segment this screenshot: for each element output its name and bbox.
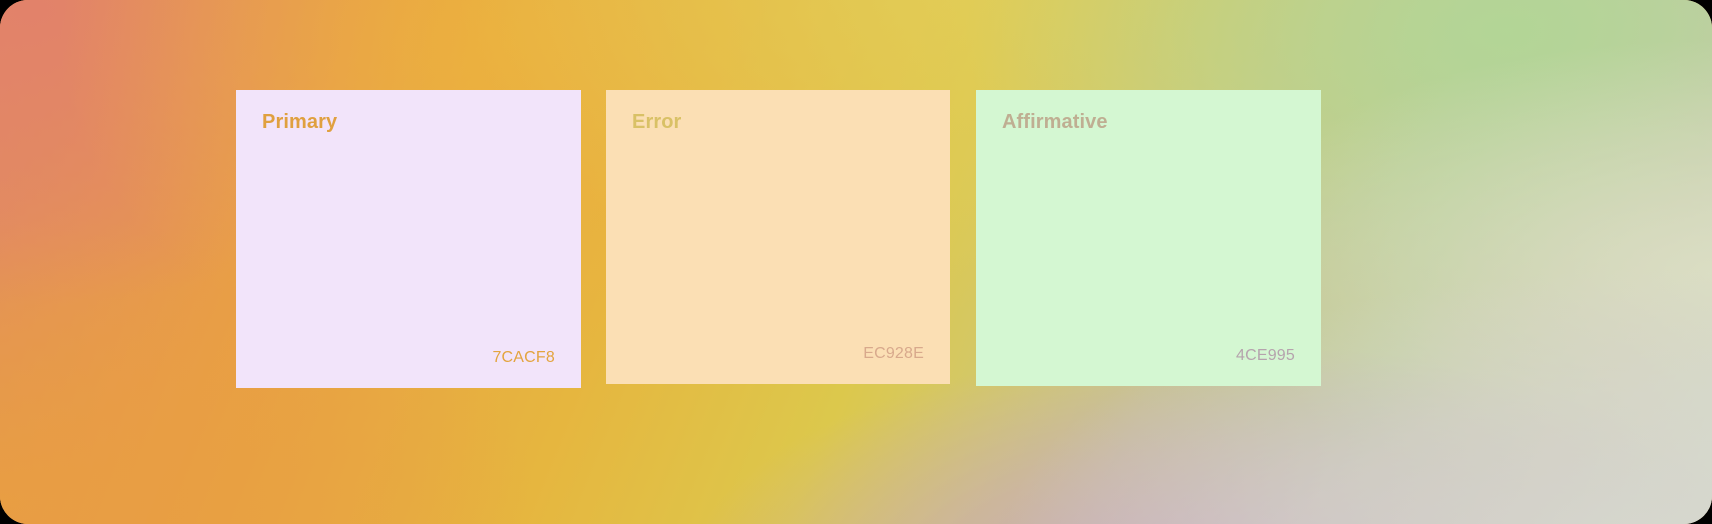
- swatch-hex-primary: 7CACF8: [262, 350, 555, 366]
- color-swatch-affirmative[interactable]: Affirmative 4CE995: [976, 90, 1321, 386]
- color-swatch-primary[interactable]: Primary 7CACF8: [236, 90, 581, 388]
- color-swatch-error[interactable]: Error EC928E: [606, 90, 950, 384]
- swatch-label-error: Error: [632, 112, 924, 132]
- swatch-hex-error: EC928E: [632, 346, 924, 362]
- swatch-hex-affirmative: 4CE995: [1002, 348, 1295, 364]
- swatch-label-primary: Primary: [262, 112, 555, 132]
- swatch-label-affirmative: Affirmative: [1002, 112, 1295, 132]
- color-palette-canvas: Primary 7CACF8 Error EC928E Affirmative …: [0, 0, 1712, 524]
